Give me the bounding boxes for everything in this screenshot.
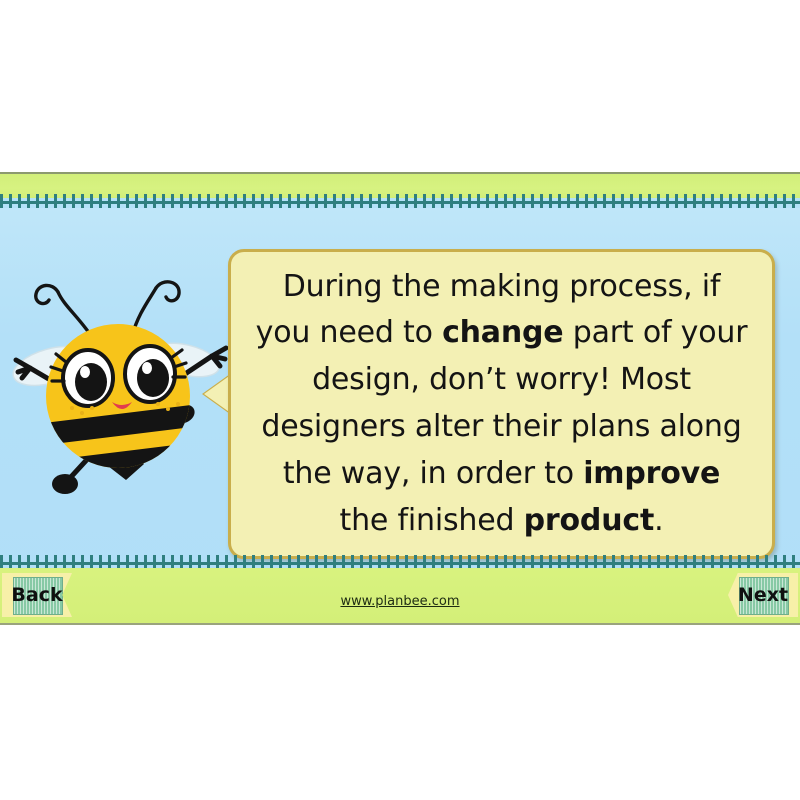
presentation-slide: During the making process, if you need t… [0, 172, 800, 625]
bee-foot-left [52, 474, 78, 494]
bottom-green-band: Back www.planbee.com Next [0, 568, 800, 623]
slide-canvas: During the making process, if you need t… [0, 0, 800, 800]
website-link[interactable]: www.planbee.com [0, 594, 800, 609]
speech-bubble-text: During the making process, if you need t… [231, 264, 772, 545]
speech-bubble: During the making process, if you need t… [228, 249, 775, 559]
next-button[interactable]: Next [728, 573, 798, 617]
next-button-label: Next [738, 584, 788, 606]
